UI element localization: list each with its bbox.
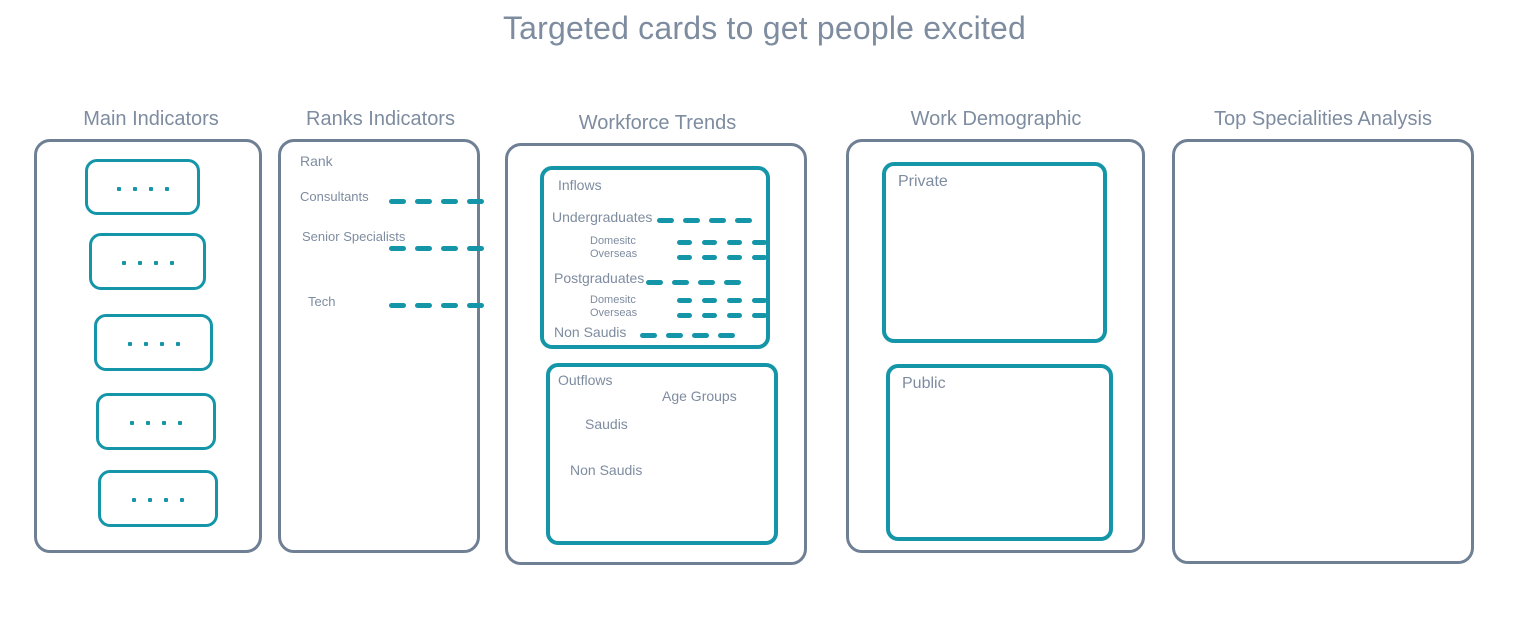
main-indicator-tile-2[interactable] — [89, 233, 206, 290]
page-title: Targeted cards to get people excited — [0, 10, 1529, 47]
work-demographic-label-public: Public — [902, 375, 946, 393]
column-ranks-indicators: Ranks Indicators Rank Consultants Senior… — [278, 108, 483, 553]
inflows-dashes-non-saudis — [640, 333, 735, 338]
column-title-main-indicators: Main Indicators — [26, 108, 276, 131]
column-top-specialities: Top Specialities Analysis — [1172, 108, 1474, 564]
rank-row-label-consultants: Consultants — [300, 190, 369, 205]
outflows-label-non-saudis: Non Saudis — [570, 463, 642, 479]
inflows-label-undergraduates-overseas: Overseas — [590, 248, 637, 260]
column-work-demographic: Work Demographic Private Public — [846, 108, 1146, 553]
main-indicator-tile-4[interactable] — [96, 393, 216, 450]
dots-icon — [128, 342, 180, 346]
rank-row-dashes-senior-specialists — [389, 246, 484, 251]
card-workforce-trends[interactable]: Inflows Undergraduates Domesitc Overseas… — [505, 143, 807, 565]
rank-row-label-tech: Tech — [308, 295, 335, 310]
dots-icon — [130, 421, 182, 425]
column-title-workforce-trends: Workforce Trends — [505, 112, 810, 135]
card-top-specialities[interactable] — [1172, 139, 1474, 564]
inflows-label-non-saudis: Non Saudis — [554, 325, 626, 341]
column-title-ranks-indicators: Ranks Indicators — [278, 108, 483, 131]
inflows-dashes-undergraduates — [657, 218, 752, 223]
main-indicator-tile-3[interactable] — [94, 314, 213, 371]
inflows-label-postgraduates-overseas: Overseas — [590, 307, 637, 319]
rank-row-label-senior-specialists: Senior Specialists — [302, 230, 374, 245]
inflows-dashes-undergraduates-domestic — [677, 240, 777, 245]
inflows-dashes-postgraduates — [646, 280, 741, 285]
box-inflows[interactable]: Inflows Undergraduates Domesitc Overseas… — [540, 166, 770, 349]
column-title-top-specialities: Top Specialities Analysis — [1172, 108, 1474, 131]
inflows-label-undergraduates-domestic: Domesitc — [590, 235, 636, 247]
main-indicator-tile-1[interactable] — [85, 159, 200, 215]
rank-row-dashes-consultants — [389, 199, 484, 204]
box-private[interactable]: Private — [882, 162, 1107, 343]
work-demographic-label-private: Private — [898, 173, 948, 191]
box-outflows[interactable]: Outflows Age Groups Saudis Non Saudis — [546, 363, 778, 545]
card-ranks-indicators[interactable]: Rank Consultants Senior Specialists Tech — [278, 139, 480, 553]
main-indicator-tile-5[interactable] — [98, 470, 218, 527]
inflows-label-postgraduates: Postgraduates — [554, 271, 644, 287]
ranks-header-label: Rank — [300, 154, 333, 170]
inflows-dashes-postgraduates-domestic — [677, 298, 777, 303]
inflows-label-postgraduates-domestic: Domesitc — [590, 294, 636, 306]
inflows-dashes-postgraduates-overseas — [677, 313, 777, 318]
card-work-demographic[interactable]: Private Public — [846, 139, 1145, 553]
rank-row-dashes-tech — [389, 303, 484, 308]
outflows-label-age-groups: Age Groups — [662, 389, 737, 405]
inflows-label-undergraduates: Undergraduates — [552, 210, 652, 226]
outflows-heading: Outflows — [558, 373, 612, 389]
outflows-label-saudis: Saudis — [585, 417, 628, 433]
dots-icon — [132, 498, 184, 502]
column-workforce-trends: Workforce Trends Inflows Undergraduates … — [505, 112, 810, 565]
dots-icon — [117, 187, 169, 191]
column-main-indicators: Main Indicators — [26, 108, 276, 553]
inflows-dashes-undergraduates-overseas — [677, 255, 777, 260]
card-main-indicators[interactable] — [34, 139, 262, 553]
column-title-work-demographic: Work Demographic — [846, 108, 1146, 131]
inflows-heading: Inflows — [558, 178, 602, 194]
dots-icon — [122, 261, 174, 265]
box-public[interactable]: Public — [886, 364, 1113, 541]
